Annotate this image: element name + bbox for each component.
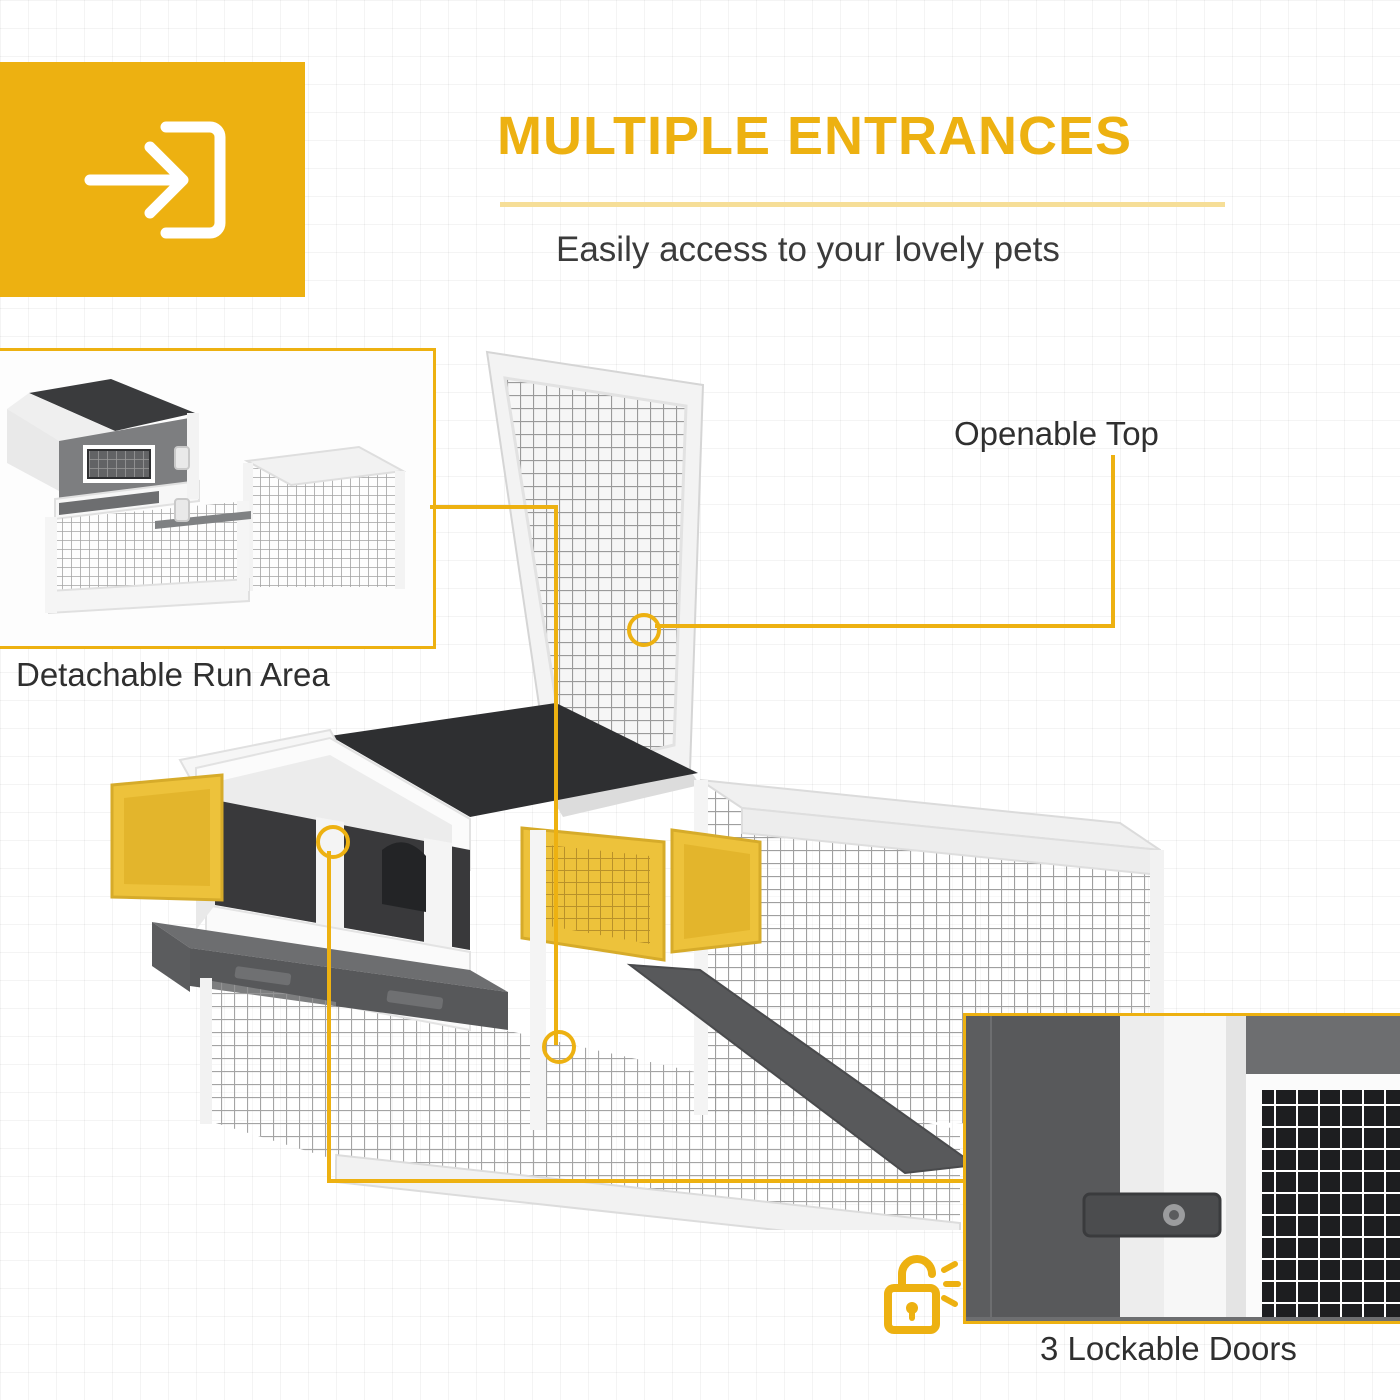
title-divider — [500, 202, 1225, 207]
inset-hutch-illustration — [0, 351, 429, 643]
callout-line-run-v — [554, 505, 558, 1045]
page-title: MULTIPLE ENTRANCES — [497, 105, 1132, 167]
anchor-dot-run-area — [542, 1030, 576, 1064]
door-left-open — [112, 775, 222, 900]
callout-line-openable-h — [655, 624, 1115, 628]
enter-arrow-icon — [78, 115, 228, 245]
detachable-run-inset — [0, 348, 436, 649]
callout-label-openable-top: Openable Top — [954, 415, 1159, 453]
enter-arrow-icon-badge — [0, 62, 305, 297]
unlocked-padlock-icon — [880, 1250, 964, 1338]
left-mesh-panel — [200, 978, 336, 1160]
callout-line-leftdoor-h — [327, 1179, 975, 1183]
callout-line-leftdoor-v — [327, 851, 331, 1183]
lockable-doors-inset — [963, 1013, 1400, 1324]
callout-label-detachable-run: Detachable Run Area — [16, 656, 330, 694]
page-subtitle: Easily access to your lovely pets — [556, 230, 1060, 270]
center-post — [530, 830, 546, 1130]
callout-label-lockable-doors: 3 Lockable Doors — [1040, 1330, 1297, 1368]
callout-line-run-h — [430, 505, 558, 509]
anchor-dot-left-door — [316, 825, 350, 859]
anchor-dot-openable-top — [627, 613, 661, 647]
door-right-open — [672, 830, 760, 952]
inset-latch-illustration — [966, 1016, 1400, 1317]
callout-line-openable-v — [1111, 455, 1115, 627]
